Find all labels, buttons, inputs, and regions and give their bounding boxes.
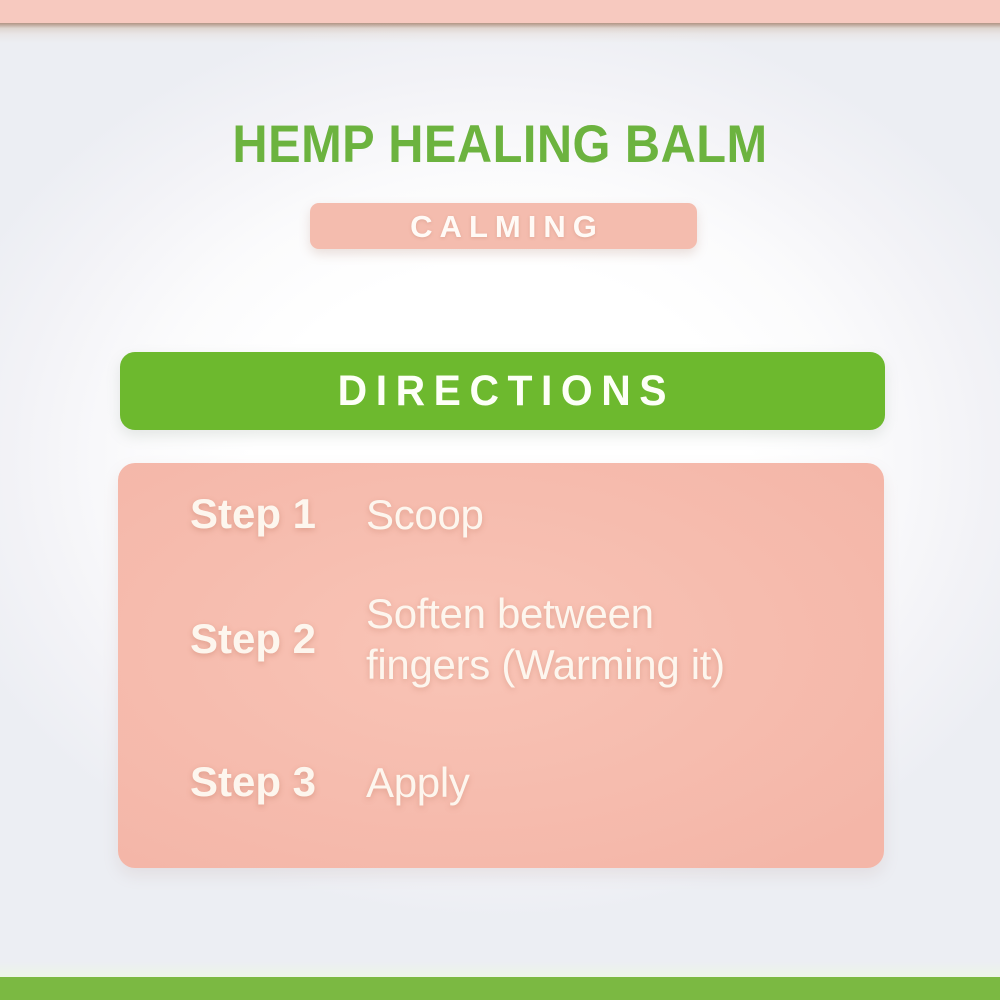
step-description: Scoop: [366, 489, 484, 540]
footer-bar-glow: [0, 962, 1000, 978]
top-accent-bar-shadow: [0, 23, 1000, 43]
directions-heading-bar: DIRECTIONS: [120, 352, 885, 430]
variant-badge-label: CALMING: [403, 211, 604, 242]
step-label: Step 3: [190, 754, 366, 811]
step-description: Apply: [366, 757, 470, 808]
top-accent-bar: [0, 0, 1000, 23]
product-infographic: HEMP HEALING BALM CALMING DIRECTIONS Ste…: [0, 0, 1000, 1000]
directions-heading-label: DIRECTIONS: [330, 370, 676, 413]
step-label: Step 1: [190, 486, 366, 543]
step-row: Step 1 Scoop: [190, 486, 484, 543]
variant-badge: CALMING: [310, 203, 697, 249]
step-row: Step 3 Apply: [190, 754, 470, 811]
step-row: Step 2 Soften between fingers (Warming i…: [190, 588, 725, 690]
page-title: HEMP HEALING BALM: [40, 118, 960, 171]
footer-accent-bar: [0, 977, 1000, 1000]
step-label: Step 2: [190, 611, 366, 668]
directions-steps-panel: Step 1 Scoop Step 2 Soften between finge…: [118, 463, 884, 868]
step-description: Soften between fingers (Warming it): [366, 588, 725, 690]
